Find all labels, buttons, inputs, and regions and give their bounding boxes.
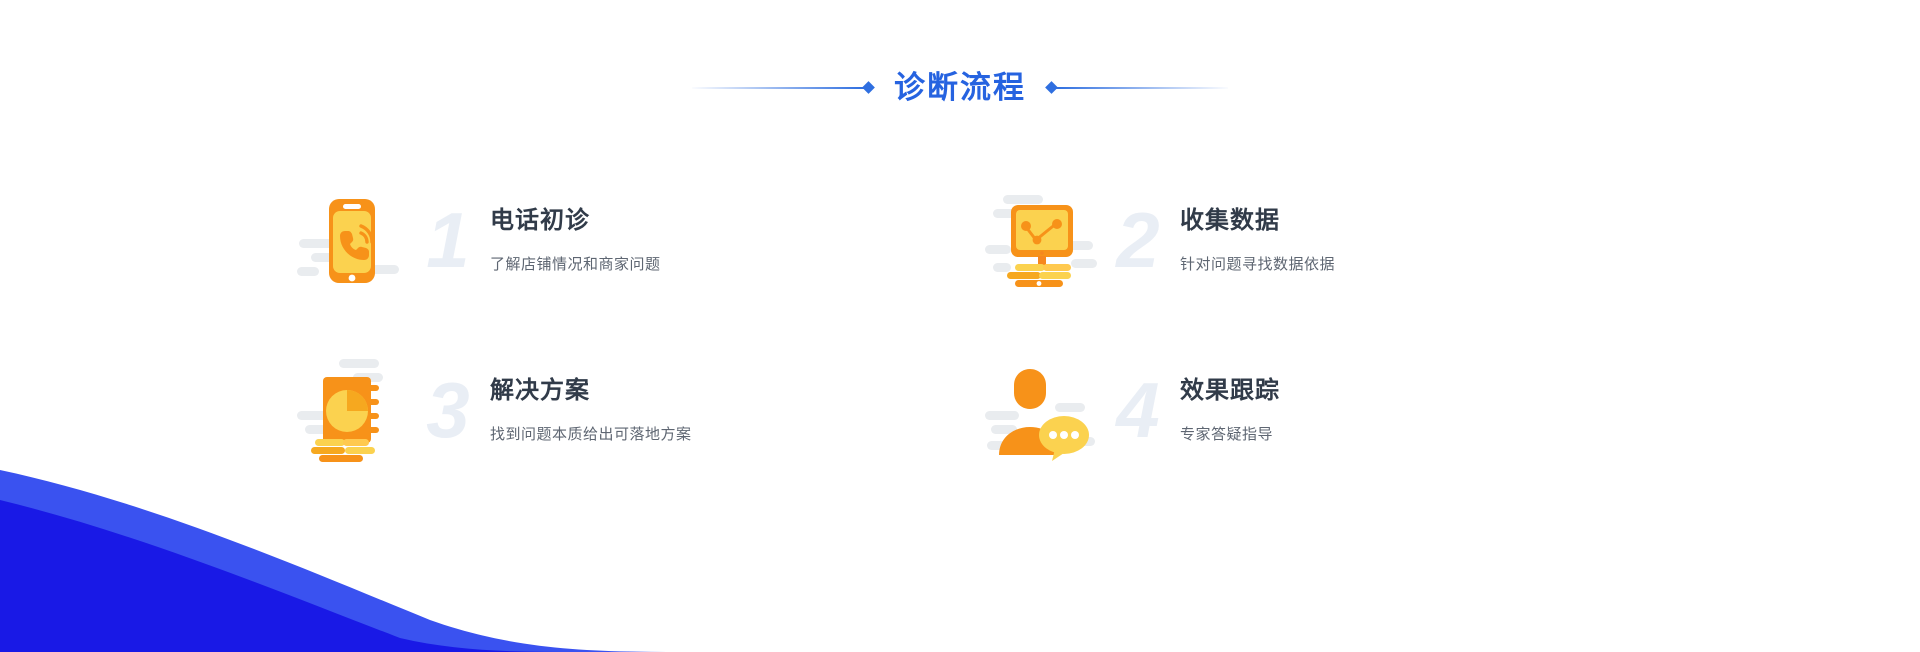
process-step-3[interactable]: 3 解决方案 找到问题本质给出可落地方案 <box>295 355 895 465</box>
phone-icon <box>295 185 410 295</box>
step-text-block: 效果跟踪 专家答疑指导 <box>1174 376 1280 445</box>
step-description: 找到问题本质给出可落地方案 <box>490 425 692 445</box>
process-step-1[interactable]: 1 电话初诊 了解店铺情况和商家问题 <box>295 185 895 295</box>
process-steps-grid: 1 电话初诊 了解店铺情况和商家问题 <box>295 185 1585 465</box>
title-decoration-line-right <box>1056 87 1228 89</box>
step-description: 了解店铺情况和商家问题 <box>490 255 661 275</box>
step-title: 电话初诊 <box>490 206 661 236</box>
step-text-block: 收集数据 针对问题寻找数据依据 <box>1174 206 1335 275</box>
section-header: 诊断流程 <box>0 72 1920 103</box>
diagnosis-process-section: 诊断流程 <box>0 0 1920 652</box>
step-description: 针对问题寻找数据依据 <box>1180 255 1335 275</box>
process-step-4[interactable]: 4 效果跟踪 专家答疑指导 <box>985 355 1585 465</box>
step-description: 专家答疑指导 <box>1180 425 1280 445</box>
monitor-chart-icon <box>985 185 1100 295</box>
step-title: 收集数据 <box>1180 206 1335 236</box>
step-number: 3 <box>410 371 484 449</box>
step-text-block: 解决方案 找到问题本质给出可落地方案 <box>484 376 692 445</box>
step-number: 4 <box>1100 371 1174 449</box>
step-text-block: 电话初诊 了解店铺情况和商家问题 <box>484 206 661 275</box>
report-piechart-icon <box>295 355 410 465</box>
step-title: 解决方案 <box>490 376 692 406</box>
process-step-2[interactable]: 2 收集数据 针对问题寻找数据依据 <box>985 185 1585 295</box>
title-decoration-line-left <box>692 87 864 89</box>
user-chat-icon <box>985 355 1100 465</box>
step-title: 效果跟踪 <box>1180 376 1280 406</box>
step-number: 2 <box>1100 201 1174 279</box>
step-number: 1 <box>410 201 484 279</box>
page-title: 诊断流程 <box>873 72 1047 103</box>
